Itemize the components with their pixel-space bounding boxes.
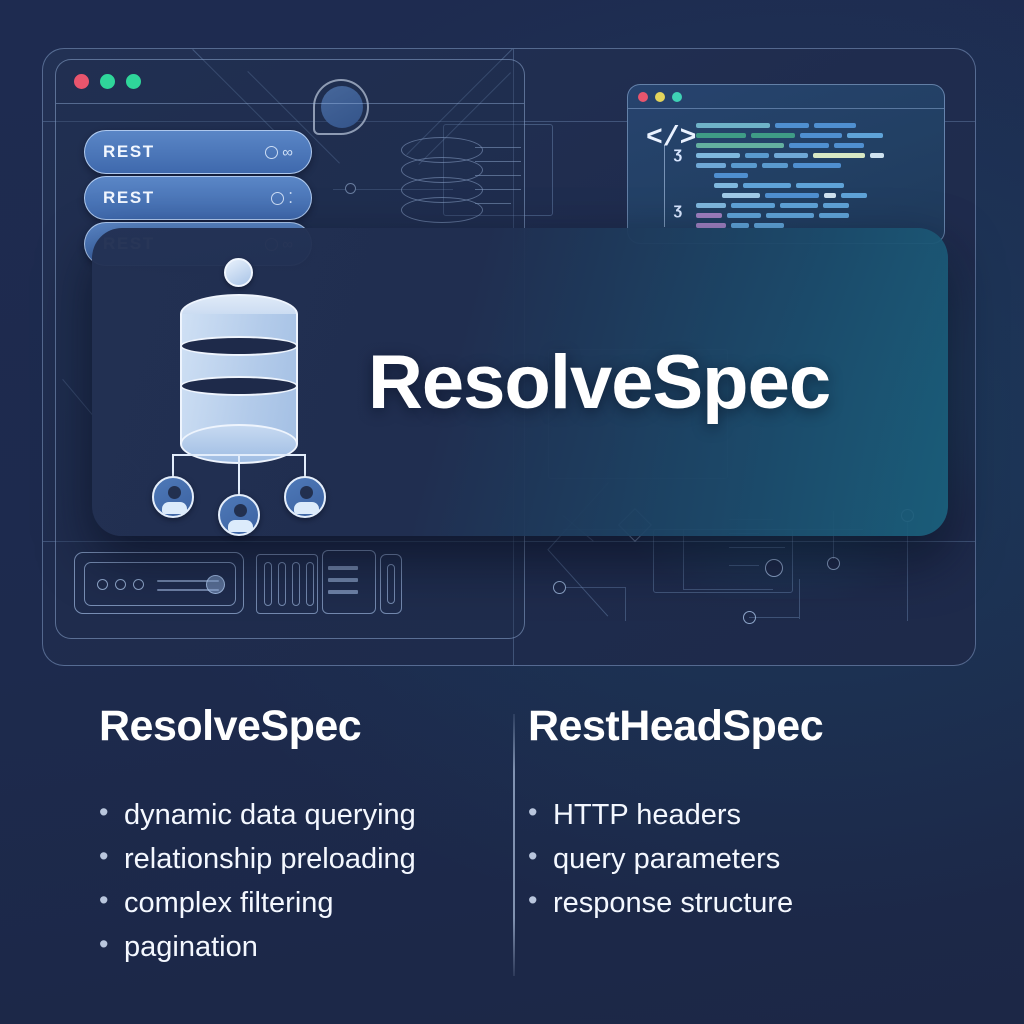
- code-line: [696, 163, 934, 168]
- code-token: [793, 163, 841, 168]
- feature-item: response structure: [528, 881, 1024, 925]
- rest-chip[interactable]: REST ∞: [84, 130, 312, 174]
- column-divider: [513, 714, 515, 976]
- code-token: [841, 193, 867, 198]
- feature-item: dynamic data querying: [99, 793, 470, 837]
- minimize-dot[interactable]: [655, 92, 665, 102]
- rest-chip-label: REST: [103, 142, 155, 162]
- code-token: [722, 193, 760, 198]
- code-token: [823, 203, 849, 208]
- maximize-dot[interactable]: [126, 74, 141, 89]
- code-token: [696, 133, 746, 138]
- code-token: [780, 203, 818, 208]
- code-token: [714, 173, 748, 178]
- code-token: [762, 163, 788, 168]
- code-token: [696, 213, 722, 218]
- code-line: [696, 123, 934, 128]
- code-token: [696, 203, 726, 208]
- code-token: [731, 163, 757, 168]
- traffic-lights: [638, 92, 682, 102]
- code-token: [834, 143, 864, 148]
- code-line: [696, 213, 934, 218]
- minimize-dot[interactable]: [100, 74, 115, 89]
- close-dot[interactable]: [74, 74, 89, 89]
- feature-list: HTTP headersquery parametersresponse str…: [528, 793, 1024, 925]
- code-line: [696, 143, 934, 148]
- close-dot[interactable]: [638, 92, 648, 102]
- server-unit-icon: [74, 552, 244, 614]
- code-token: [800, 133, 842, 138]
- code-token: [824, 193, 836, 198]
- code-token: [847, 133, 883, 138]
- code-token: [714, 183, 738, 188]
- window-titlebar: [628, 85, 944, 109]
- feature-item: relationship preloading: [99, 837, 470, 881]
- rest-chip-label: REST: [103, 188, 155, 208]
- feature-list: dynamic data queryingrelationship preloa…: [99, 793, 470, 969]
- code-token: [751, 133, 795, 138]
- feature-item: query parameters: [528, 837, 1024, 881]
- feature-item: complex filtering: [99, 881, 470, 925]
- code-token: [766, 213, 814, 218]
- code-token: [731, 203, 775, 208]
- code-token: [819, 213, 849, 218]
- code-token: [789, 143, 829, 148]
- circle-infinity-icon: ∞: [265, 144, 293, 161]
- code-line: [696, 133, 934, 138]
- code-token: [727, 213, 761, 218]
- code-token: [696, 163, 726, 168]
- brand-card: ResolveSpec: [92, 228, 948, 536]
- column-resolvespec: ResolveSpec dynamic data queryingrelatio…: [0, 702, 470, 1002]
- brace-glyph: ʒ: [673, 201, 683, 219]
- code-token: [870, 153, 884, 158]
- db-node-user: [284, 476, 326, 518]
- code-line: [714, 183, 934, 188]
- code-lines: [696, 123, 934, 233]
- column-title: ResolveSpec: [99, 702, 470, 751]
- brace-glyph: ʒ: [673, 145, 683, 163]
- poster-canvas: REST ∞ REST ⁚ REST ∞: [0, 0, 1024, 1024]
- column-restheadspec: RestHeadSpec HTTP headersquery parameter…: [470, 702, 1024, 1002]
- page-title: ResolveSpec: [368, 339, 830, 426]
- code-editor-window: </> ʒ ʒ: [627, 84, 945, 244]
- code-line: [714, 173, 934, 178]
- traffic-lights: [74, 74, 141, 89]
- code-token: [765, 193, 819, 198]
- rest-chip[interactable]: REST ⁚: [84, 176, 312, 220]
- code-line: [696, 153, 934, 158]
- code-token: [696, 153, 740, 158]
- db-node-user: [218, 494, 260, 536]
- code-token: [774, 153, 808, 158]
- code-line: [696, 203, 934, 208]
- code-tag-icon: </>: [646, 123, 696, 154]
- server-rack-icon: [256, 550, 406, 616]
- code-token: [813, 153, 865, 158]
- code-token: [745, 153, 769, 158]
- code-token: [775, 123, 809, 128]
- circle-moon-icon: ⁚: [271, 189, 293, 207]
- code-token: [743, 183, 791, 188]
- code-line: [722, 193, 934, 198]
- code-token: [696, 123, 770, 128]
- database-cluster-icon: [132, 258, 346, 506]
- code-token: [696, 143, 784, 148]
- feature-columns: ResolveSpec dynamic data queryingrelatio…: [0, 702, 1024, 1002]
- code-token: [796, 183, 844, 188]
- column-title: RestHeadSpec: [528, 702, 1024, 751]
- window-titlebar: [56, 60, 524, 104]
- feature-item: HTTP headers: [528, 793, 1024, 837]
- code-token: [814, 123, 856, 128]
- db-node-user: [152, 476, 194, 518]
- editor-gutter: [664, 145, 665, 227]
- maximize-dot[interactable]: [672, 92, 682, 102]
- feature-item: pagination: [99, 925, 470, 969]
- db-knob: [224, 258, 253, 287]
